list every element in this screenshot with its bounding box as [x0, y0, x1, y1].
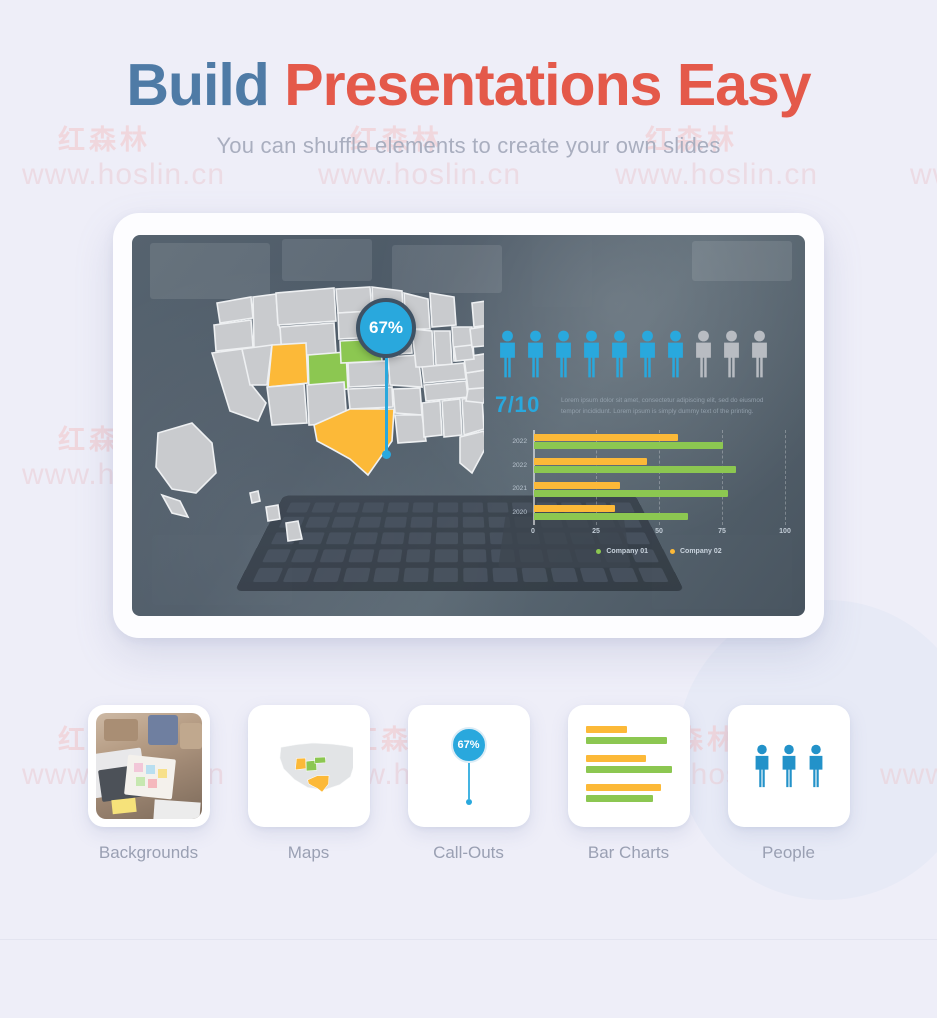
chart-category-label: 2022 — [512, 462, 527, 469]
bar-group: 2021 — [533, 478, 785, 502]
person-icon — [495, 330, 520, 378]
photo-paper — [532, 237, 592, 307]
bar-chart: 2022202220212020 0255075100 Company 01Co… — [495, 430, 785, 570]
person-icon — [551, 330, 576, 378]
photo-key — [403, 568, 429, 582]
title-phrase-presentations-easy: Presentations Easy — [284, 52, 810, 118]
state-ak-tail — [162, 495, 188, 517]
person-icon — [691, 330, 716, 378]
map-thumbnail-icon — [265, 736, 353, 796]
slide-screen: 67% 7/10 Lorem ipsum dolor sit amet, con… — [132, 235, 805, 616]
person-icon — [719, 330, 744, 378]
thumbnail-card[interactable] — [728, 705, 850, 827]
chart-bar — [534, 490, 728, 497]
watermark-url: www.hoslin.cn — [910, 158, 937, 192]
thumbnail-maps[interactable]: Maps — [248, 705, 370, 863]
thumbnail-label: Call-Outs — [408, 843, 530, 863]
state-wv — [454, 345, 474, 361]
photo-key — [373, 568, 400, 582]
title-word-build: Build — [126, 52, 268, 118]
people-infographic: 7/10 Lorem ipsum dolor sit amet, consect… — [495, 330, 785, 418]
state-pa — [470, 325, 484, 347]
state-ny — [472, 299, 484, 327]
state-ut — [268, 343, 308, 387]
people-stat-value: 7/10 — [495, 392, 561, 418]
thumbnail-backgrounds[interactable]: Backgrounds — [88, 705, 210, 863]
person-icon — [523, 330, 548, 378]
thumbnail-card[interactable]: 67% — [408, 705, 530, 827]
legend-item[interactable]: Company 02 — [670, 548, 722, 555]
chart-category-label: 2021 — [512, 485, 527, 492]
state-hi — [286, 521, 302, 541]
bar-group: 2022 — [533, 454, 785, 478]
callout-marker[interactable]: 67% — [356, 298, 416, 459]
watermark-url: www.hoslin.cn — [22, 158, 225, 192]
chart-bar — [534, 458, 647, 465]
thumbnail-people[interactable]: People — [728, 705, 850, 863]
thumbnail-label: Maps — [248, 843, 370, 863]
watermark-url: www.hoslin.cn — [615, 158, 818, 192]
bar-chart-x-axis: 0255075100 — [533, 528, 785, 542]
bar-chart-legend: Company 01Company 02 — [533, 548, 785, 555]
chart-gridline — [785, 430, 786, 525]
state-az — [267, 384, 307, 425]
people-thumbnail-icon — [751, 739, 827, 793]
thumbnail-callouts[interactable]: 67% Call-Outs — [408, 705, 530, 863]
people-row — [495, 330, 785, 378]
state-mt — [276, 288, 336, 325]
state-fl — [460, 431, 484, 473]
state-hi — [250, 491, 260, 503]
photo-key — [463, 568, 488, 582]
thumbnail-card[interactable] — [568, 705, 690, 827]
next-section-band: Customizable — [0, 940, 937, 1018]
state-al — [442, 399, 462, 437]
category-thumbnails: Backgrounds Maps — [0, 705, 937, 863]
us-map[interactable] — [154, 263, 484, 563]
chart-bar — [534, 434, 678, 441]
legend-dot — [670, 549, 675, 554]
person-icon — [579, 330, 604, 378]
state-ms — [422, 401, 442, 437]
tablet-mockup: 67% 7/10 Lorem ipsum dolor sit amet, con… — [113, 213, 824, 638]
state-ky — [422, 363, 466, 383]
person-icon — [663, 330, 688, 378]
chart-category-label: 2020 — [512, 509, 527, 516]
state-mi — [430, 293, 456, 327]
thumbnail-label: People — [728, 843, 850, 863]
page-header: Build Presentations Easy You can shuffle… — [0, 55, 937, 159]
state-wa — [217, 297, 253, 323]
person-icon — [635, 330, 660, 378]
watermark-url: www.hoslin.cn — [318, 158, 521, 192]
thumb-callout-value: 67% — [451, 727, 487, 763]
thumbnail-bar-charts[interactable]: Bar Charts — [568, 705, 690, 863]
chart-bar — [534, 442, 723, 449]
chart-category-label: 2022 — [512, 438, 527, 445]
photo-key — [253, 568, 284, 582]
state-ak — [156, 423, 216, 493]
state-tn — [424, 381, 468, 401]
state-or — [214, 320, 253, 351]
photo-key — [313, 568, 342, 582]
photo-key — [433, 568, 458, 582]
page-root: 红森林 红森林 红森林 www.hoslin.cn www.hoslin.cn … — [0, 0, 937, 1018]
chart-x-tick: 75 — [718, 528, 726, 535]
photo-key — [343, 568, 371, 582]
chart-x-tick: 0 — [531, 528, 535, 535]
photo-thumbnail-icon — [96, 713, 202, 819]
callout-point-dot — [382, 450, 391, 459]
photo-paper — [692, 241, 792, 281]
thumbnail-card[interactable] — [248, 705, 370, 827]
chart-bar — [534, 466, 736, 473]
thumbnail-label: Backgrounds — [88, 843, 210, 863]
callout-thumbnail-icon: 67% — [451, 727, 487, 805]
bar-chart-thumbnail-icon — [586, 726, 672, 806]
page-title: Build Presentations Easy — [0, 55, 937, 117]
thumb-callout-stem — [468, 763, 470, 799]
chart-x-tick: 25 — [592, 528, 600, 535]
thumbnail-label: Bar Charts — [568, 843, 690, 863]
bar-group: 2022 — [533, 430, 785, 454]
callout-stem — [385, 358, 388, 452]
callout-value: 67% — [356, 298, 416, 358]
people-stat-block: 7/10 Lorem ipsum dolor sit amet, consect… — [495, 392, 785, 418]
photo-key — [283, 568, 313, 582]
page-subtitle: You can shuffle elements to create your … — [0, 133, 937, 159]
thumb-callout-dot — [466, 799, 472, 805]
legend-label: Company 01 — [606, 548, 648, 555]
people-description: Lorem ipsum dolor sit amet, consectetur … — [561, 392, 785, 417]
chart-x-tick: 50 — [655, 528, 663, 535]
legend-dot — [596, 549, 601, 554]
person-icon — [747, 330, 772, 378]
legend-item[interactable]: Company 01 — [596, 548, 648, 555]
bar-chart-plot: 2022202220212020 — [533, 430, 785, 525]
bar-group: 2020 — [533, 501, 785, 525]
person-icon — [607, 330, 632, 378]
chart-bar — [534, 505, 615, 512]
chart-bar — [534, 513, 688, 520]
state-in — [434, 331, 452, 365]
chart-x-tick: 100 — [779, 528, 791, 535]
legend-label: Company 02 — [680, 548, 722, 555]
thumbnail-card[interactable] — [88, 705, 210, 827]
state-hi — [266, 505, 280, 521]
chart-bar — [534, 482, 620, 489]
